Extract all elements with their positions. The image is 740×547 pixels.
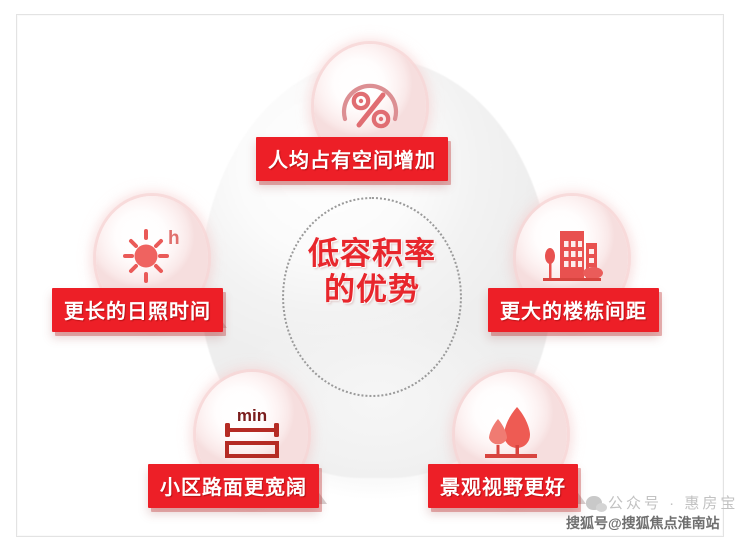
infographic-canvas: 低容积率 的优势 人均占有空间增加 — [0, 0, 740, 547]
sun-hours-icon: h — [113, 219, 191, 297]
wechat-watermark-text: 公众号 · 惠房宝 — [608, 492, 738, 513]
node-bottom-right-label[interactable]: 景观视野更好 — [428, 464, 578, 508]
sohu-watermark: 搜狐号@搜狐焦点淮南站 — [566, 513, 720, 533]
node-left-label[interactable]: 更长的日照时间 — [52, 288, 223, 332]
node-right-label[interactable]: 更大的楼栋间距 — [488, 288, 659, 332]
trees-landscape-icon — [472, 395, 550, 473]
road-width-min-icon: min — [213, 395, 291, 473]
percent-gauge-icon — [331, 67, 409, 145]
svg-text:min: min — [237, 406, 267, 425]
buildings-icon — [533, 219, 611, 297]
wechat-icon — [586, 496, 602, 510]
center-title: 低容积率 的优势 — [282, 236, 462, 307]
node-bottom-left-label[interactable]: 小区路面更宽阔 — [148, 464, 319, 508]
svg-text:h: h — [168, 228, 180, 249]
wechat-watermark: 公众号 · 惠房宝 — [586, 492, 738, 513]
node-top-label[interactable]: 人均占有空间增加 — [256, 137, 448, 181]
